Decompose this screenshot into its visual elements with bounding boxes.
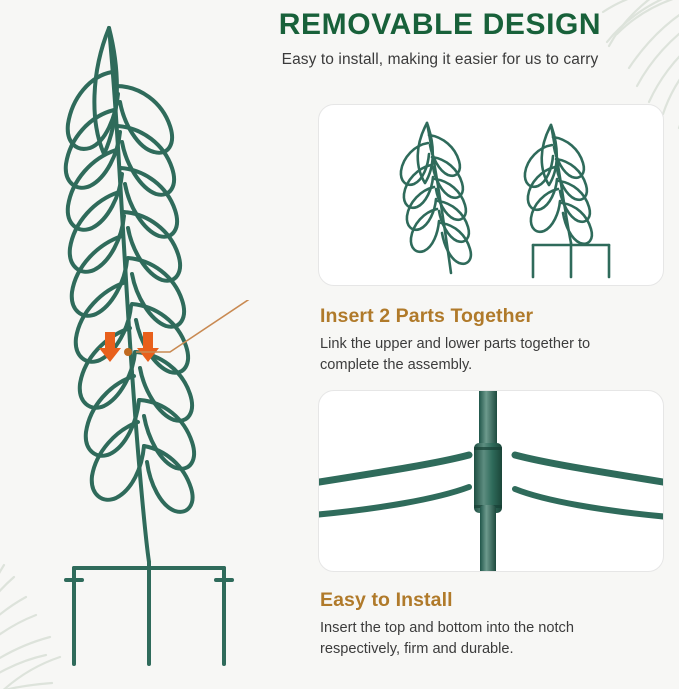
product-hero-image <box>6 2 296 677</box>
detail-card-insert-parts <box>318 104 664 286</box>
poster-root: REMOVABLE DESIGN Easy to install, making… <box>0 0 679 679</box>
two-parts-illustration <box>319 105 663 285</box>
detail-card-easy-install <box>318 390 664 572</box>
caption-title-2: Easy to Install <box>320 589 453 612</box>
joint-closeup-illustration <box>319 391 663 571</box>
caption-body-2: Insert the top and bottom into the notch… <box>320 618 650 660</box>
caption-body-1: Link the upper and lower parts together … <box>320 334 650 376</box>
caption-title-1: Insert 2 Parts Together <box>320 305 533 328</box>
